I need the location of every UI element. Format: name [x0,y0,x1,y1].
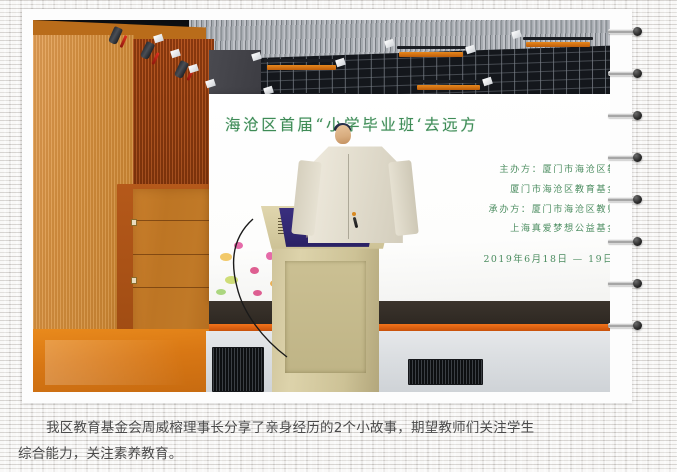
light-bar [414,80,483,83]
spiral-binder-ring [608,111,642,120]
conference-stage-photo: 海沧区首届“小学毕业班‘去远方 主办方：厦门市海沧区教 厦门市海沧区教育基金 承… [33,20,610,392]
door-hinge-icon [131,219,137,226]
light-bar [264,59,339,62]
slide-title: 海沧区首届“小学毕业班‘去远方 [225,113,478,135]
slide-organizer-line-2: 厦门市海沧区教育基金 [510,181,610,195]
spiral-binder-ring [608,321,642,330]
amber-floodlight [417,85,480,90]
caption-line-1: 我区教育基金会周威榕理事长分享了亲身经历的2个小故事，期望教师们关注学生 [18,415,658,441]
photo-caption: 我区教育基金会周威榕理事长分享了亲身经历的2个小故事，期望教师们关注学生 综合能… [18,415,658,467]
speaker-shirt-placket [348,154,349,240]
spiral-binder-ring [608,153,642,162]
amber-floodlight [267,65,336,70]
slide-organizer-line-3: 承办方：厦门市海沧区教师 [489,201,610,215]
podium-cable [223,217,338,392]
slide-organizer-line-1: 主办方：厦门市海沧区教 [499,161,610,175]
microphone-head [352,212,356,216]
slide-organizer-line-4: 上海真爱梦想公益基金 [510,220,610,234]
door-hinge-icon [131,277,137,284]
spiral-binder-ring [608,279,642,288]
spiral-binder-ring [608,195,642,204]
amber-floodlight [526,42,589,47]
slide-date: 2019年6月18日 — 19日 [483,251,610,265]
spiral-binder-ring [608,69,642,78]
spiral-binder-ring [608,27,642,36]
speaker-torso [308,146,403,243]
caption-line-2: 综合能力，关注素养教育。 [18,441,658,467]
spiral-binder-ring [608,237,642,246]
floor-monitor-speaker [408,359,483,385]
light-bar [523,37,592,40]
amber-floodlight [399,52,462,57]
speaker-head [335,125,351,144]
photo-card: 海沧区首届“小学毕业班‘去远方 主办方：厦门市海沧区教 厦门市海沧区教育基金 承… [22,9,632,403]
light-bar [397,46,466,49]
